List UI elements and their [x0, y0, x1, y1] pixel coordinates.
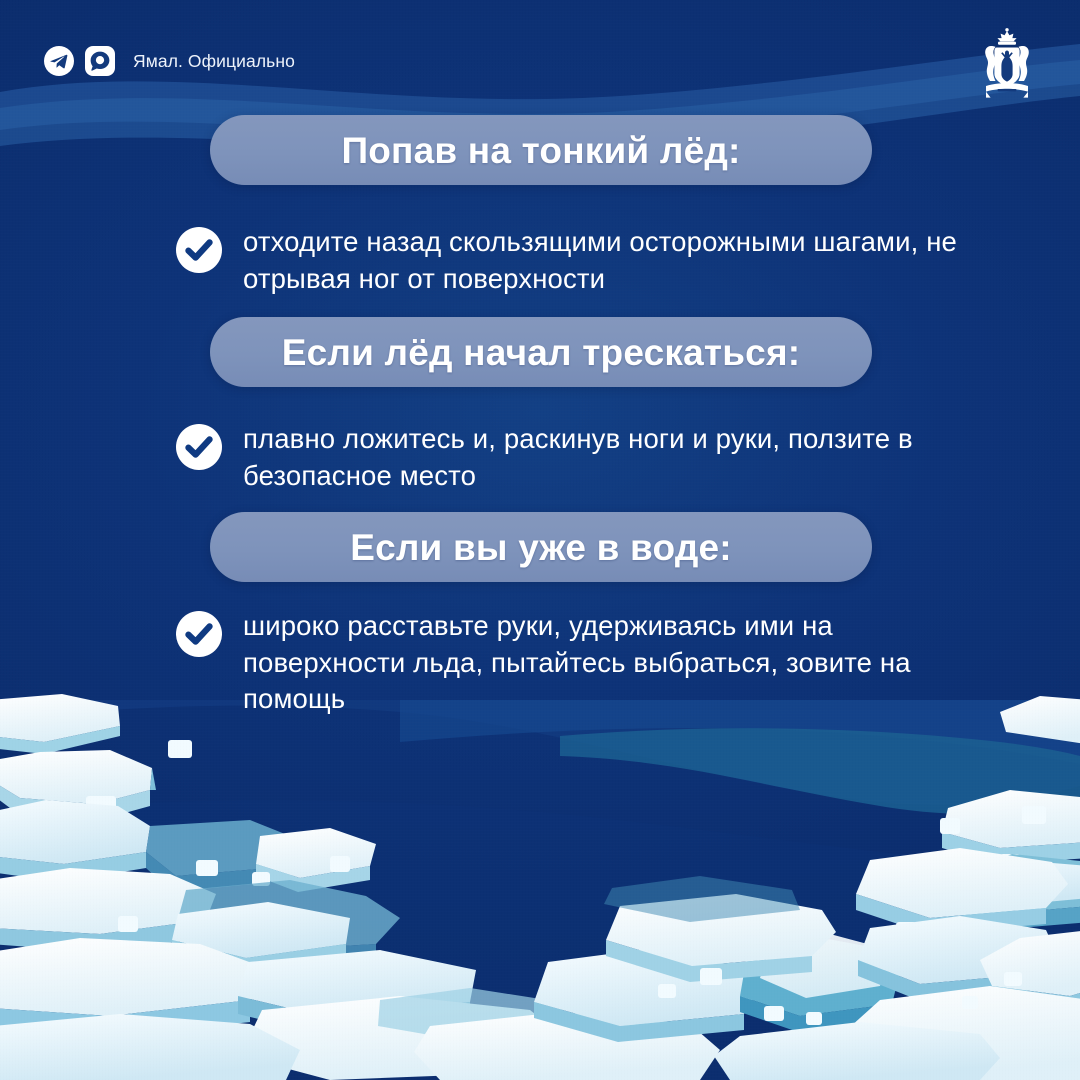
- checkmark-icon: [176, 611, 222, 657]
- section-heading-pill-2: Если лёд начал трескаться:: [210, 317, 872, 387]
- section-heading-label-2: Если лёд начал трескаться:: [282, 334, 801, 371]
- advice-item-3: широко расставьте руки, удерживаясь ими …: [176, 608, 996, 718]
- section-heading-pill-3: Если вы уже в воде:: [210, 512, 872, 582]
- checkmark-icon: [176, 424, 222, 470]
- section-heading-pill-1: Попав на тонкий лёд:: [210, 115, 872, 185]
- poster-canvas: Ямал. Официально Попав на тонкий лёд:: [0, 0, 1080, 1080]
- section-heading-label-3: Если вы уже в воде:: [350, 529, 732, 566]
- advice-item-text-3: широко расставьте руки, удерживаясь ими …: [243, 608, 996, 718]
- channel-name-label: Ямал. Официально: [133, 51, 295, 72]
- yamal-coat-of-arms-icon: [976, 28, 1038, 102]
- telegram-icon[interactable]: [44, 46, 74, 76]
- advice-item-text-2: плавно ложитесь и, раскинув ноги и руки,…: [243, 421, 996, 494]
- advice-item-text-1: отходите назад скользящими осторожными ш…: [243, 224, 996, 297]
- section-heading-label-1: Попав на тонкий лёд:: [341, 132, 740, 169]
- max-messenger-icon[interactable]: [85, 46, 115, 76]
- checkmark-icon: [176, 227, 222, 273]
- channel-header: Ямал. Официально: [44, 46, 295, 76]
- advice-item-1: отходите назад скользящими осторожными ш…: [176, 224, 996, 297]
- advice-item-2: плавно ложитесь и, раскинув ноги и руки,…: [176, 421, 996, 494]
